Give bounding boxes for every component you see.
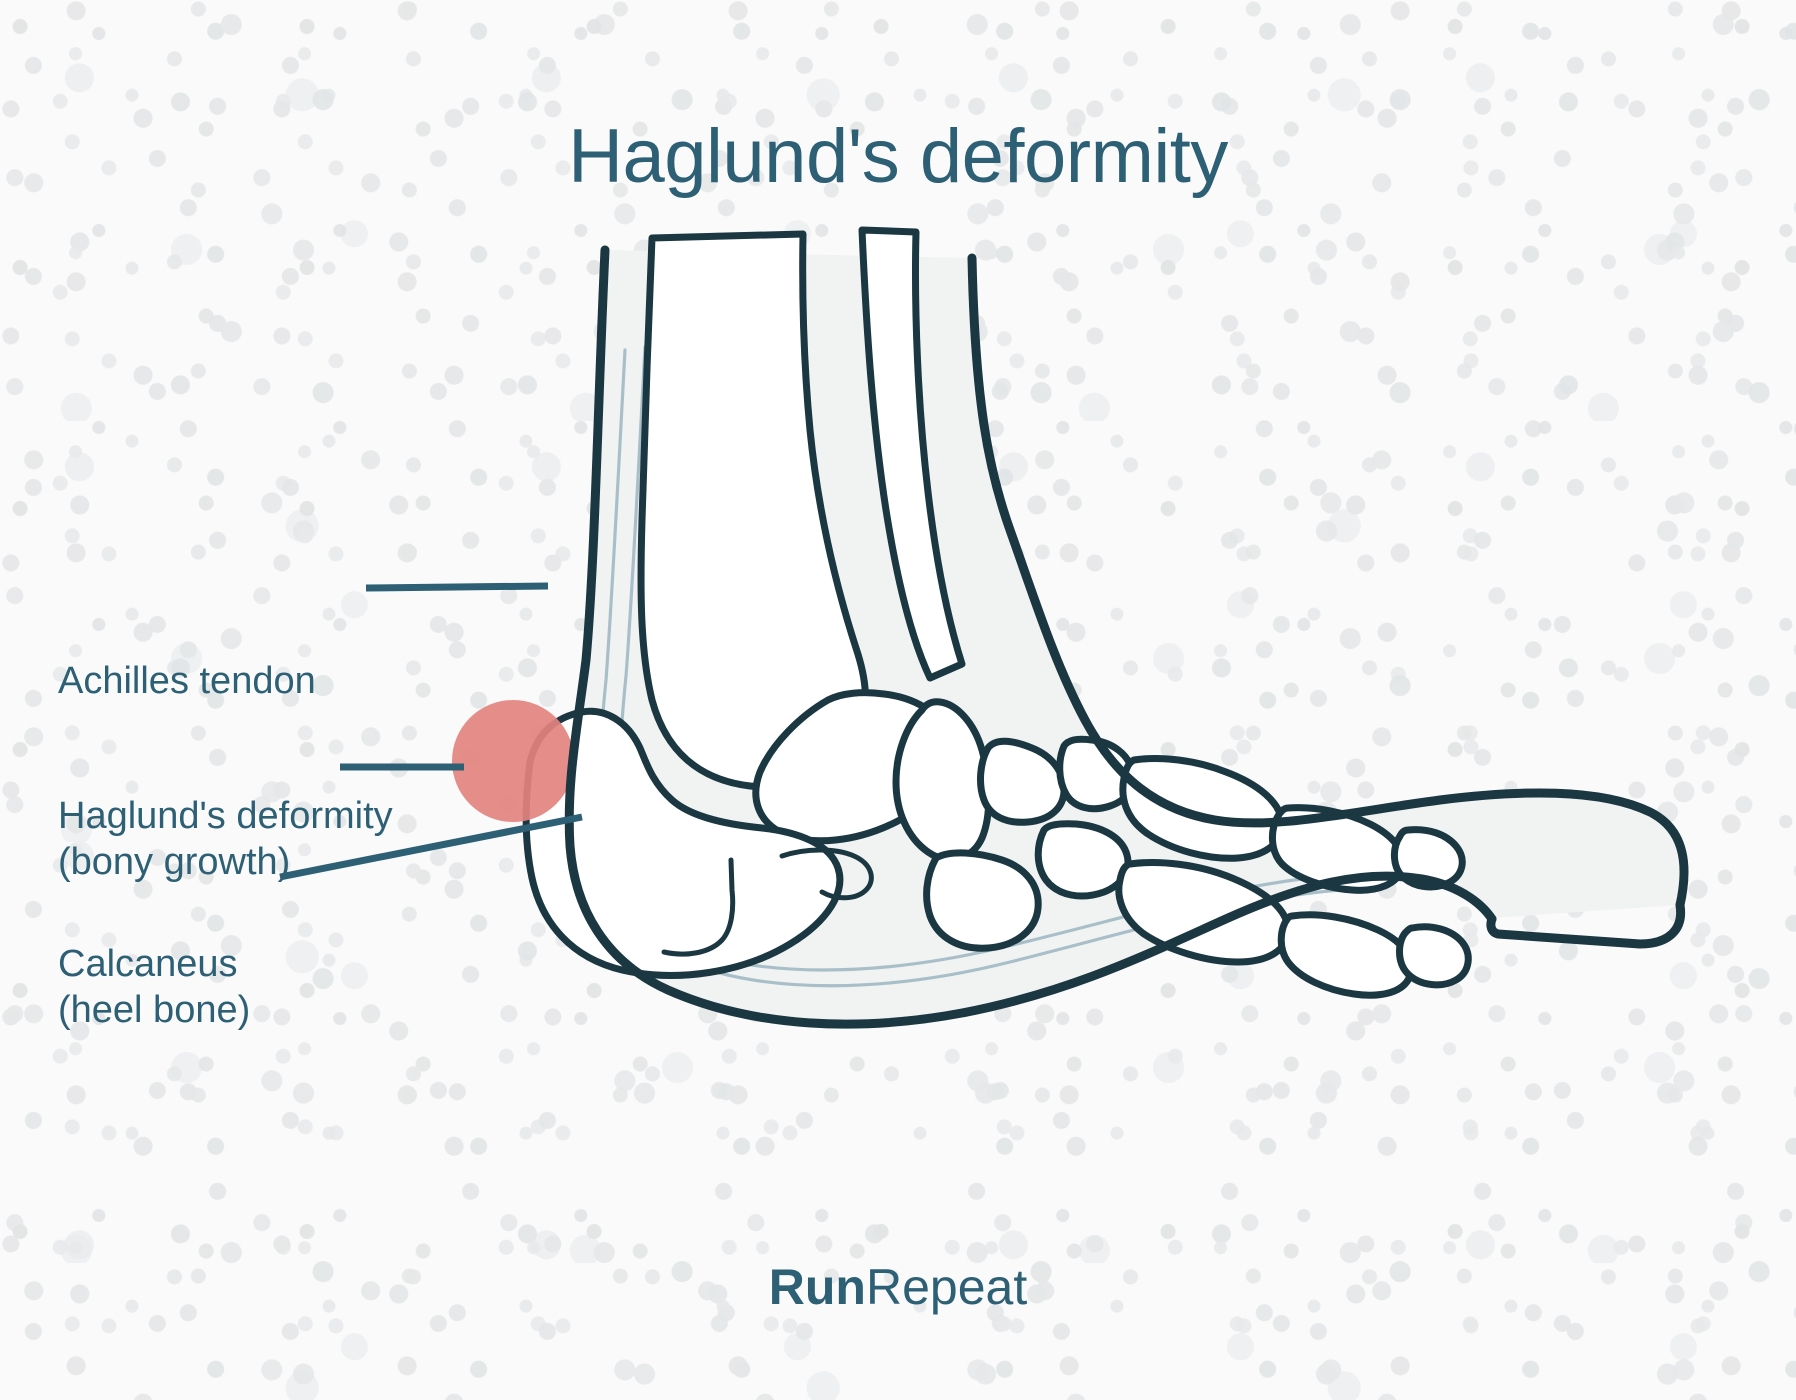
- phalanx-bone-2: [1281, 915, 1411, 995]
- leader-line-achilles-tendon: [366, 586, 548, 588]
- navicular-bone: [896, 702, 989, 860]
- phalanx-bone-4: [1400, 927, 1469, 985]
- bony-growth-highlight-circle: [452, 700, 574, 822]
- label-achilles-tendon: Achilles tendon: [58, 658, 316, 704]
- runrepeat-logo[interactable]: RunRepeat: [0, 1258, 1796, 1316]
- diagram-canvas: Haglund's deformity: [0, 0, 1796, 1400]
- cuboid-bone: [927, 853, 1039, 948]
- cuneiform-bone-3: [1038, 824, 1128, 896]
- label-calcaneus: Calcaneus (heel bone): [58, 941, 250, 1033]
- logo-text-repeat: Repeat: [866, 1259, 1027, 1315]
- label-haglunds-deformity: Haglund's deformity (bony growth): [58, 793, 393, 885]
- logo-text-run: Run: [769, 1259, 866, 1315]
